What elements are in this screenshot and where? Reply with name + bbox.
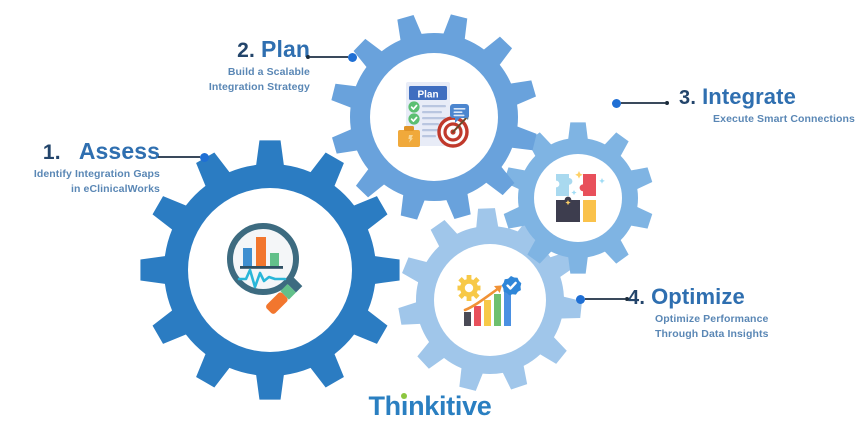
callout-plan-heading: 2. Plan [170,38,310,61]
connector-dot-large [576,295,585,304]
callout-optimize-heading: 4. Optimize [628,286,828,308]
gears-illustration [0,0,860,430]
connector-dot-large [348,53,357,62]
gear-decor-icon [458,275,481,301]
connector-line [621,102,665,104]
callout-plan-title: Plan [261,38,310,61]
infographic-canvas: Plan [0,0,860,430]
connector-dot-small [665,101,669,105]
callout-plan-subtitle: Build a Scalable Integration Strategy [170,65,310,95]
target-icon [439,115,469,146]
callout-plan-number: 2. [237,40,255,61]
callout-integrate-title: Integrate [702,86,796,108]
callout-integrate-subtitle-line1: Execute Smart Connections [679,112,855,127]
callout-integrate-number: 3. [679,88,696,108]
logo-wordmark: Thinkitive [368,391,491,422]
callout-optimize[interactable]: 4. Optimize Optimize Performance Through… [628,286,828,342]
callout-optimize-subtitle: Optimize Performance Through Data Insigh… [628,312,828,342]
callout-plan-subtitle-line2: Integration Strategy [170,80,310,95]
connector-line [585,298,625,300]
callout-plan[interactable]: 2. Plan Build a Scalable Integration Str… [170,38,310,95]
callout-assess[interactable]: 1. Assess Identify Integration Gaps in e… [8,140,160,197]
callout-assess-subtitle-line2: in eClinicalWorks [8,182,160,197]
callout-integrate[interactable]: 3. Integrate Execute Smart Connections [679,86,855,127]
callout-integrate-subtitle: Execute Smart Connections [679,112,855,127]
callout-optimize-subtitle-line2: Through Data Insights [655,327,828,342]
puzzle-piece-yellow [583,200,596,222]
connector-line [158,156,200,158]
callout-assess-title: Assess [79,140,160,163]
callout-assess-number: 1. [43,142,61,163]
connector-plan [306,52,357,62]
callout-integrate-heading: 3. Integrate [679,86,855,108]
callout-assess-subtitle-line1: Identify Integration Gaps [8,167,160,182]
connector-dot-large [612,99,621,108]
puzzle-piece-blue [556,174,572,196]
callout-plan-subtitle-line1: Build a Scalable [170,65,310,80]
puzzle-piece-red [580,174,596,196]
connector-assess [158,152,209,162]
callout-optimize-title: Optimize [651,286,745,308]
plan-document-icon: Plan [392,74,478,160]
plan-icon-label: Plan [417,89,438,100]
callout-assess-heading: 1. Assess [8,140,160,163]
connector-dot-small [625,297,629,301]
callout-assess-subtitle: Identify Integration Gaps in eClinicalWo… [8,167,160,197]
magnifying-glass-bar-chart-icon [215,215,325,325]
connector-line [310,56,348,58]
callout-optimize-number: 4. [628,288,645,308]
connector-optimize [576,294,629,304]
connector-integrate [612,98,669,108]
callout-optimize-subtitle-line1: Optimize Performance [655,312,828,327]
puzzle-pieces-icon [552,168,614,230]
connector-dot-large [200,153,209,162]
thinkitive-logo: Thinkitive [0,391,860,422]
growth-chart-gear-check-icon [455,268,525,338]
logo-text: Thinkitive [368,391,491,421]
